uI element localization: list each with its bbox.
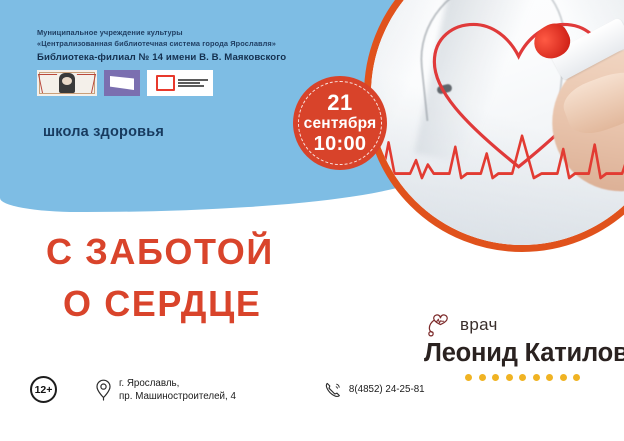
- phone-text: 8(4852) 24-25-81: [349, 383, 425, 396]
- date-badge: 21 сентября 10:00: [293, 76, 387, 170]
- series-label: школа здоровья: [43, 124, 164, 140]
- speaker-name: Леонид Катилов: [424, 339, 624, 368]
- decorative-dot: [479, 374, 486, 381]
- location-pin-icon: [95, 379, 112, 401]
- heart-stethoscope-icon: [424, 313, 452, 337]
- decorative-dot: [560, 374, 567, 381]
- new-generation-libraries-logo: [147, 70, 213, 96]
- address-text: г. Ярославль, пр. Машиностроителей, 4: [119, 377, 236, 403]
- phone-item: 8(4852) 24-25-81: [324, 381, 425, 399]
- doctor-photo-circle: [364, 0, 624, 252]
- speaker-block: врач Леонид Катилов: [424, 312, 624, 368]
- mayakovsky-library-logo: [37, 70, 97, 96]
- decorative-dot: [506, 374, 513, 381]
- title-line-2: О СЕРДЦЕ: [63, 278, 274, 330]
- age-rating-badge: 12+: [30, 376, 57, 403]
- decorative-dot: [519, 374, 526, 381]
- decorative-dot-row: [465, 374, 580, 381]
- organization-header: Муниципальное учреждение культуры «Центр…: [37, 27, 286, 65]
- phone-icon: [324, 381, 342, 399]
- org-line-2: «Централизованная библиотечная система г…: [37, 38, 286, 49]
- poster-canvas: Муниципальное учреждение культуры «Центр…: [0, 0, 624, 441]
- decorative-dot: [533, 374, 540, 381]
- ekg-line-icon: [371, 127, 624, 193]
- decorative-dot: [492, 374, 499, 381]
- org-line-1: Муниципальное учреждение культуры: [37, 27, 286, 38]
- cbs-yaroslavl-logo: [104, 70, 140, 96]
- decorative-dot: [465, 374, 472, 381]
- speaker-role: врач: [460, 315, 498, 335]
- photo-image: [371, 0, 624, 245]
- title-line-1: С ЗАБОТОЙ: [46, 226, 274, 278]
- decorative-dot: [573, 374, 580, 381]
- address-item: г. Ярославль, пр. Машиностроителей, 4: [95, 377, 236, 403]
- decorative-dot: [546, 374, 553, 381]
- org-line-3: Библиотека-филиал № 14 имени В. В. Маяко…: [37, 51, 286, 65]
- address-line-2: пр. Машиностроителей, 4: [119, 391, 236, 402]
- address-line-1: г. Ярославль,: [119, 378, 179, 389]
- page-title: С ЗАБОТОЙ О СЕРДЦЕ: [46, 226, 274, 330]
- logo-strip: [37, 70, 213, 96]
- poster-footer: 12+ г. Ярославль, пр. Машиностроителей, …: [30, 376, 425, 403]
- badge-dashed-ring: [298, 81, 382, 165]
- photo-orange-ring: [364, 0, 624, 252]
